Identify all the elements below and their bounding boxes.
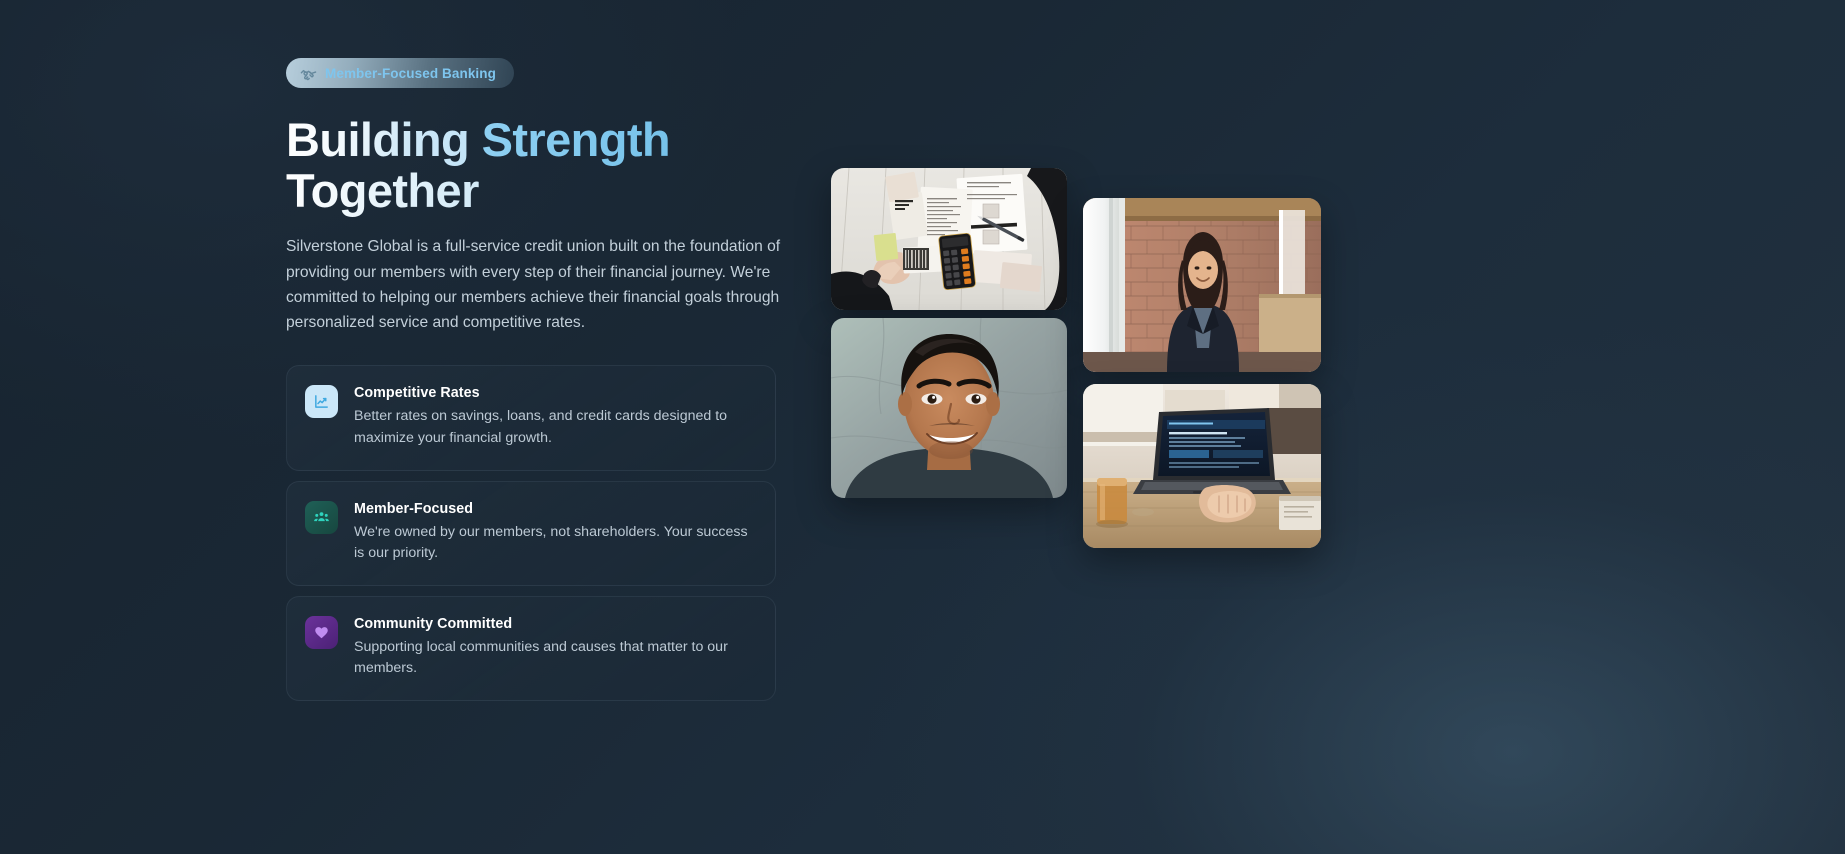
feature-card-community-committed[interactable]: Community Committed Supporting local com… [286, 596, 776, 701]
headline-word-together: Together [286, 164, 479, 217]
handshake-icon [300, 65, 317, 82]
hero-text-column: Member-Focused Banking Building Strength… [286, 58, 786, 701]
feature-title: Competitive Rates [354, 385, 755, 401]
feature-description: Supporting local communities and causes … [354, 637, 755, 680]
line-chart-icon [313, 393, 330, 410]
headline-word-building: Building [286, 113, 482, 166]
users-group-icon [313, 509, 330, 526]
section-eyebrow-badge: Member-Focused Banking [286, 58, 514, 88]
member-portrait-photo [831, 318, 1067, 498]
advisor-brick-room-photo [1083, 198, 1321, 372]
badge-label: Member-Focused Banking [325, 66, 496, 81]
intro-paragraph: Silverstone Global is a full-service cre… [286, 234, 781, 335]
feature-body-3: Community Committed Supporting local com… [354, 615, 755, 680]
tax-documents-calculator-photo [831, 168, 1067, 310]
feature-card-competitive-rates[interactable]: Competitive Rates Better rates on saving… [286, 365, 776, 470]
feature-description: Better rates on savings, loans, and cred… [354, 406, 755, 449]
feature-title: Member-Focused [354, 501, 755, 517]
feature-body-1: Competitive Rates Better rates on saving… [354, 384, 755, 449]
feature-icon-wrap-2 [305, 501, 338, 534]
feature-card-member-focused[interactable]: Member-Focused We're owned by our member… [286, 481, 776, 586]
feature-body-2: Member-Focused We're owned by our member… [354, 500, 755, 565]
heart-icon [313, 624, 330, 641]
feature-description: We're owned by our members, not sharehol… [354, 522, 755, 565]
photo-collage [831, 168, 1331, 548]
feature-list: Competitive Rates Better rates on saving… [286, 365, 786, 700]
feature-icon-wrap-1 [305, 385, 338, 418]
feature-title: Community Committed [354, 616, 755, 632]
about-hero-section: Member-Focused Banking Building Strength… [0, 0, 1845, 854]
laptop-workspace-photo [1083, 384, 1321, 548]
page-title: Building Strength Together [286, 114, 706, 216]
headline-word-strength: Strength [482, 113, 670, 166]
feature-icon-wrap-3 [305, 616, 338, 649]
